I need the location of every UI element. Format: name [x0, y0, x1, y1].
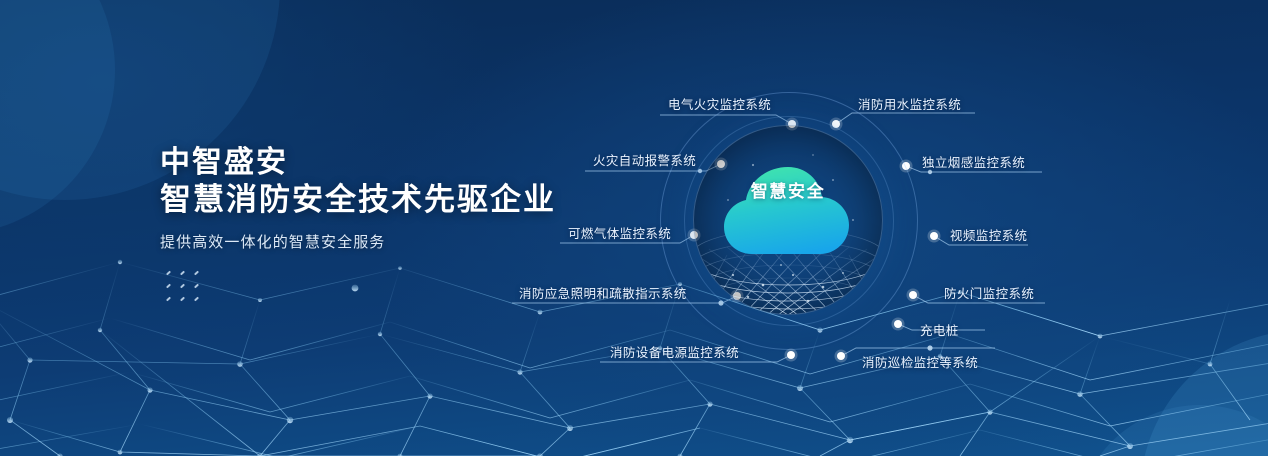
- node-label-combustible-gas[interactable]: 可燃气体监控系统: [568, 223, 671, 242]
- node-label-emergency-lighting[interactable]: 消防应急照明和疏散指示系统: [519, 283, 687, 302]
- hero-banner: 中智盛安 智慧消防安全技术先驱企业 提供高效一体化的智慧安全服务: [0, 0, 1268, 456]
- node-label-fire-inspection[interactable]: 消防巡检监控等系统: [862, 352, 978, 371]
- node-label-auto-fire-alarm[interactable]: 火灾自动报警系统: [593, 150, 696, 169]
- node-label-fire-door[interactable]: 防火门监控系统: [944, 283, 1034, 302]
- node-label-fire-water[interactable]: 消防用水监控系统: [858, 94, 961, 113]
- node-label-video-surveillance[interactable]: 视频监控系统: [950, 225, 1027, 244]
- central-globe: 智慧安全: [693, 125, 883, 315]
- node-label-equipment-power[interactable]: 消防设备电源监控系统: [610, 342, 739, 361]
- cloud-label: 智慧安全: [693, 177, 883, 202]
- node-label-charging-pile[interactable]: 充电桩: [920, 320, 959, 339]
- node-label-independent-smoke[interactable]: 独立烟感监控系统: [922, 152, 1025, 171]
- node-label-electrical-fire[interactable]: 电气火灾监控系统: [668, 94, 771, 113]
